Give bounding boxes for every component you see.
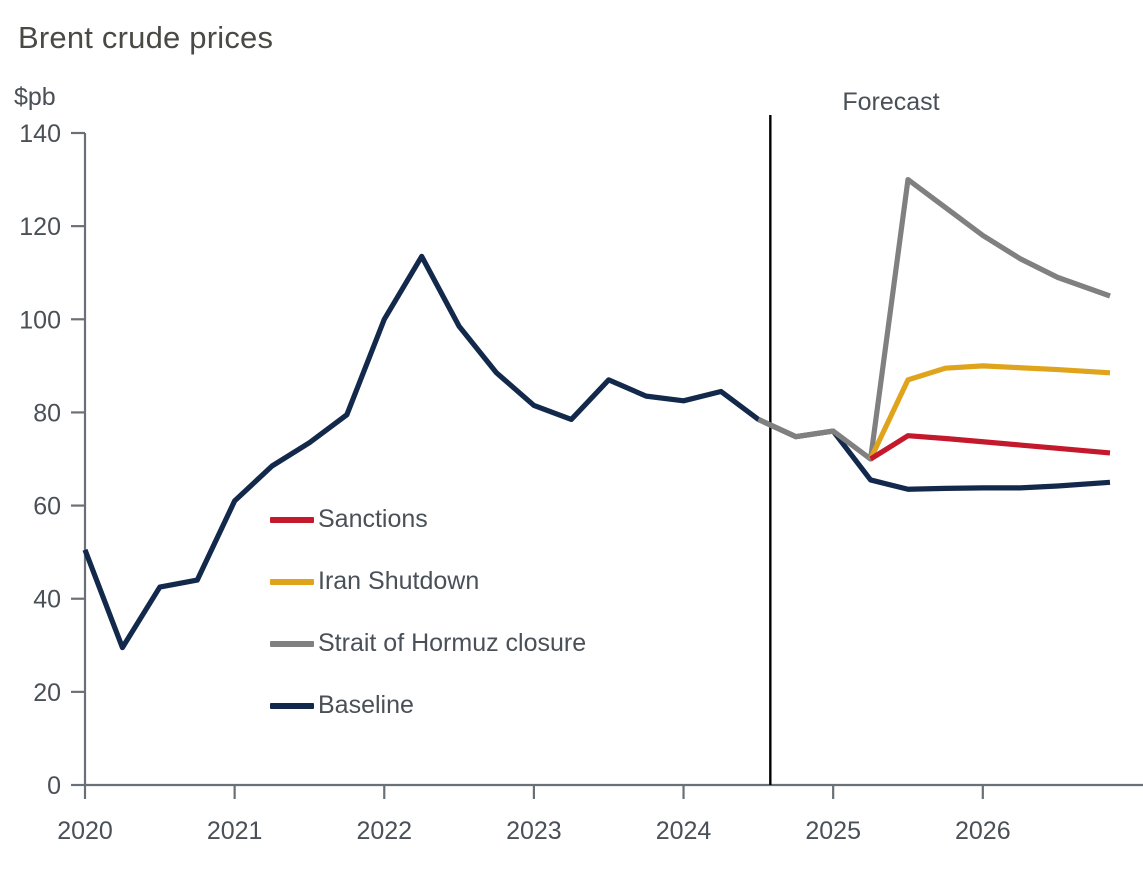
legend-label-baseline: Baseline [318, 691, 414, 720]
legend-swatch-sanctions [270, 517, 314, 523]
legend-label-iran-shutdown: Iran Shutdown [318, 567, 479, 596]
y-tick-label: 40 [33, 586, 61, 614]
chart-container: Brent crude prices $pb Forecast 02040608… [0, 0, 1143, 894]
legend-label-strait-of-hormuz-closure: Strait of Hormuz closure [318, 629, 586, 658]
series-line-strait-of-hormuz-closure [758, 180, 1110, 459]
x-tick-label: 2026 [955, 817, 1011, 845]
y-tick-label: 100 [19, 306, 61, 334]
legend-swatch-strait-of-hormuz-closure [270, 641, 314, 647]
legend-label-sanctions: Sanctions [318, 505, 428, 534]
y-tick-label: 0 [47, 772, 61, 800]
series-line-sanctions [871, 436, 1110, 459]
x-tick-label: 2024 [656, 817, 712, 845]
x-tick-label: 2022 [356, 817, 412, 845]
x-tick-label: 2023 [506, 817, 562, 845]
series-line-baseline [85, 256, 1110, 647]
y-tick-label: 60 [33, 493, 61, 521]
legend-swatch-iran-shutdown [270, 579, 314, 585]
y-tick-label: 120 [19, 213, 61, 241]
x-tick-label: 2020 [57, 817, 113, 845]
x-tick-label: 2021 [207, 817, 263, 845]
x-axis-ticks: 2020202120222023202420252026 [57, 785, 1010, 845]
chart-plot-area: 020406080100120140 202020212022202320242… [0, 0, 1143, 894]
y-tick-label: 20 [33, 679, 61, 707]
x-tick-label: 2025 [805, 817, 861, 845]
y-tick-label: 80 [33, 399, 61, 427]
data-series-group [85, 180, 1110, 648]
legend-swatch-baseline [270, 703, 314, 709]
y-axis-ticks: 020406080100120140 [19, 120, 85, 800]
y-tick-label: 140 [19, 120, 61, 148]
